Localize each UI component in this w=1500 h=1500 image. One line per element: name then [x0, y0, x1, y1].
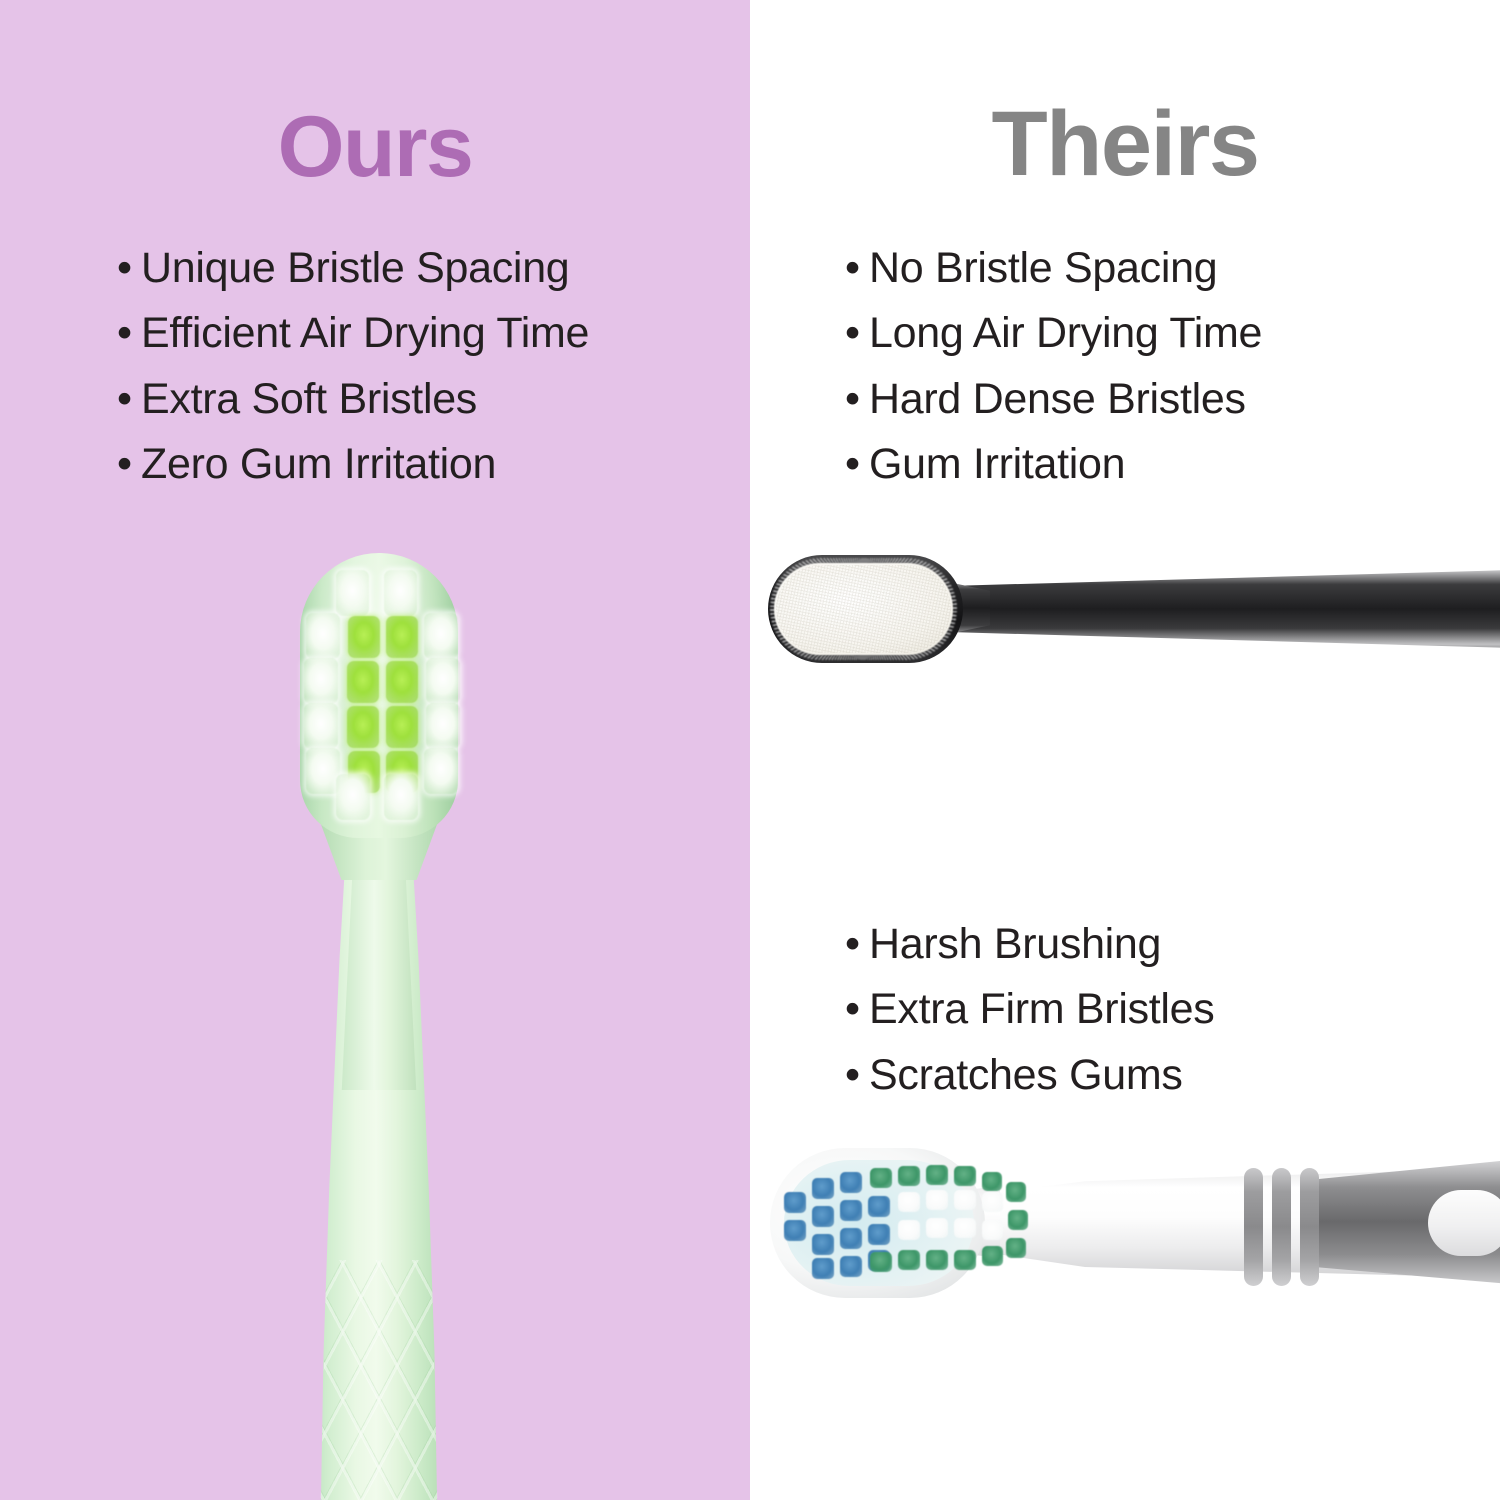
list-item: •Hard Dense Bristles: [845, 367, 1262, 432]
bullet-icon: •: [117, 236, 141, 301]
list-item-label: Unique Bristle Spacing: [141, 244, 569, 292]
bullet-icon: •: [845, 301, 869, 366]
list-item: •Zero Gum Irritation: [117, 432, 589, 497]
bullet-icon: •: [845, 432, 869, 497]
ours-title: Ours: [0, 104, 750, 190]
list-item: •Long Air Drying Time: [845, 301, 1262, 366]
list-item: •Efficient Air Drying Time: [117, 301, 589, 366]
bullet-icon: •: [845, 236, 869, 301]
bullet-icon: •: [845, 912, 869, 977]
theirs-feature-list-top: •No Bristle Spacing •Long Air Drying Tim…: [845, 236, 1262, 497]
list-item-label: Harsh Brushing: [869, 920, 1161, 968]
list-item-label: Extra Soft Bristles: [141, 375, 477, 423]
list-item-label: Hard Dense Bristles: [869, 375, 1246, 423]
comparison-infographic: Ours •Unique Bristle Spacing •Efficient …: [0, 0, 1500, 1500]
list-item-label: Gum Irritation: [869, 440, 1125, 488]
list-item-label: Scratches Gums: [869, 1051, 1183, 1099]
theirs-title: Theirs: [750, 98, 1500, 190]
list-item: •Harsh Brushing: [845, 912, 1214, 977]
list-item: •Extra Soft Bristles: [117, 367, 589, 432]
list-item: •Gum Irritation: [845, 432, 1262, 497]
ours-feature-list: •Unique Bristle Spacing •Efficient Air D…: [117, 236, 589, 497]
bullet-icon: •: [845, 977, 869, 1042]
bullet-icon: •: [117, 367, 141, 432]
ours-panel: [0, 0, 750, 1500]
bullet-icon: •: [117, 301, 141, 366]
list-item-label: Extra Firm Bristles: [869, 985, 1214, 1033]
list-item: •No Bristle Spacing: [845, 236, 1262, 301]
list-item: •Unique Bristle Spacing: [117, 236, 589, 301]
bullet-icon: •: [117, 432, 141, 497]
list-item: •Scratches Gums: [845, 1043, 1214, 1108]
theirs-panel: [750, 0, 1500, 1500]
list-item-label: Long Air Drying Time: [869, 309, 1262, 357]
bullet-icon: •: [845, 367, 869, 432]
list-item-label: No Bristle Spacing: [869, 244, 1217, 292]
theirs-feature-list-bottom: •Harsh Brushing •Extra Firm Bristles •Sc…: [845, 912, 1214, 1108]
list-item-label: Zero Gum Irritation: [141, 440, 496, 488]
list-item-label: Efficient Air Drying Time: [141, 309, 589, 357]
bullet-icon: •: [845, 1043, 869, 1108]
list-item: •Extra Firm Bristles: [845, 977, 1214, 1042]
